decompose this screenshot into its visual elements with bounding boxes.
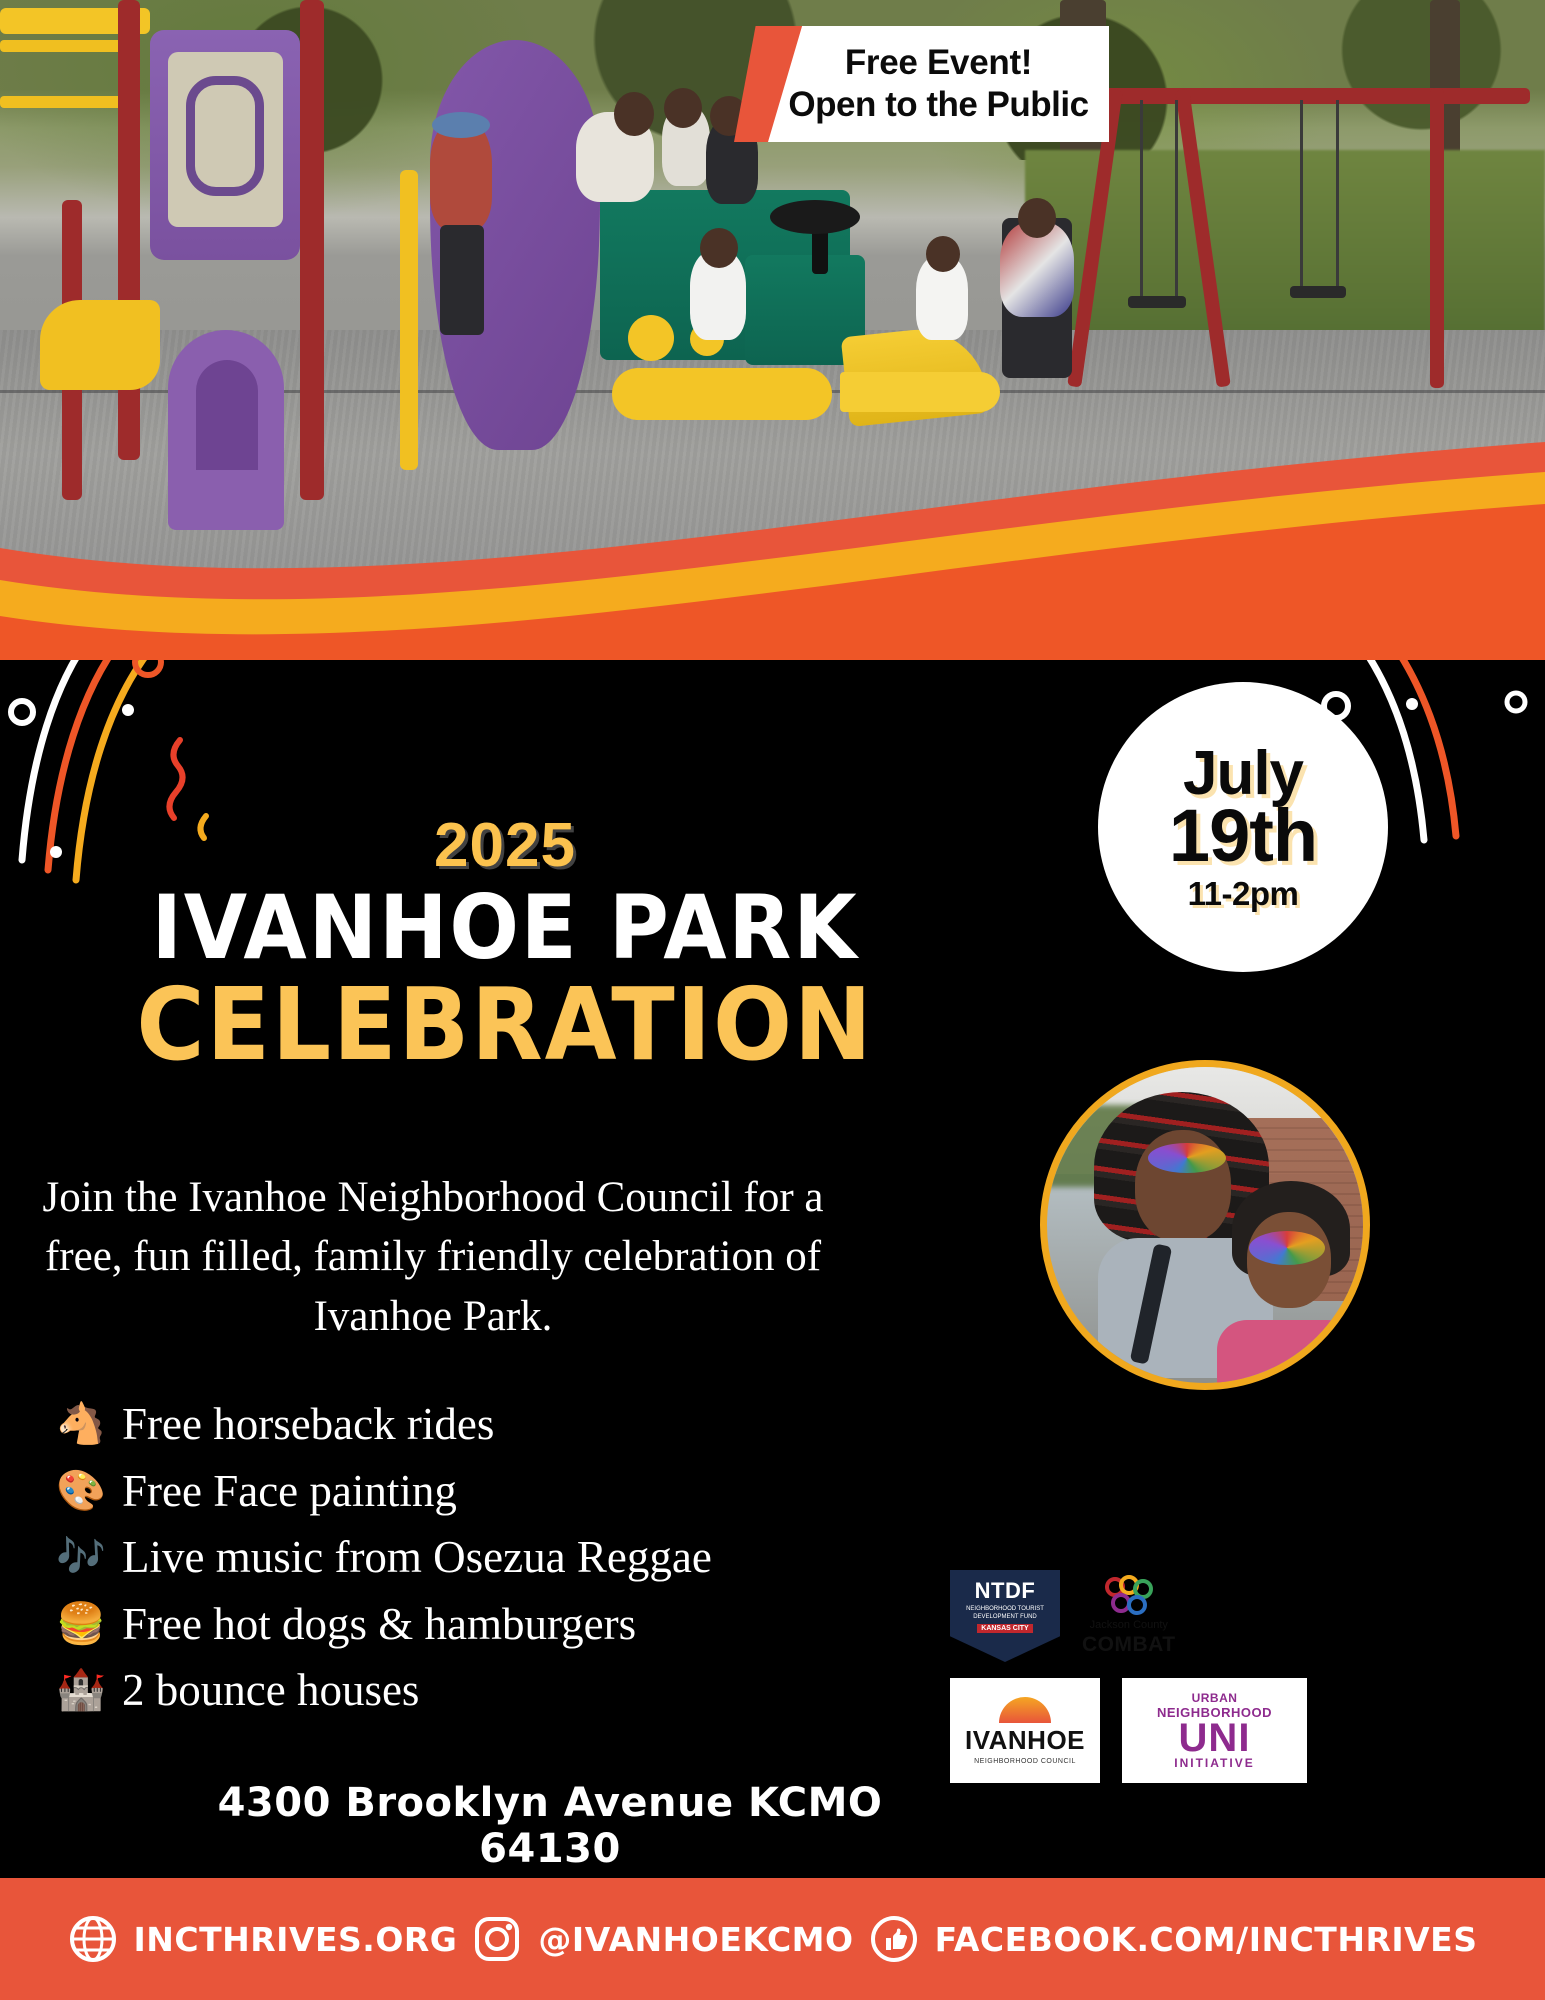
- event-description: Join the Ivanhoe Neighborhood Council fo…: [38, 1168, 828, 1346]
- feature-list: 🐴 Free horseback rides 🎨 Free Face paint…: [56, 1395, 886, 1728]
- music-notes-emoji: 🎶: [56, 1531, 106, 1583]
- combat-name: COMBAT: [1082, 1633, 1176, 1657]
- footer-instagram[interactable]: @IVANHOEKCMO: [472, 1914, 853, 1964]
- combat-county: Jackson County: [1090, 1619, 1168, 1631]
- ivanhoe-name: IVANHOE: [965, 1725, 1085, 1756]
- sponsor-row-bottom: IVANHOE NEIGHBORHOOD COUNCIL URBAN NEIGH…: [950, 1678, 1480, 1783]
- globe-icon: [68, 1914, 118, 1964]
- bulldozer-smoke: [770, 200, 860, 234]
- child-hat: [432, 112, 490, 138]
- face-painting-photo: [1040, 1060, 1370, 1390]
- ntdf-logo: NTDF NEIGHBORHOOD TOURIST DEVELOPMENT FU…: [950, 1570, 1060, 1662]
- footer-website-label: INCTHRIVES.ORG: [134, 1920, 458, 1959]
- sponsor-logos: NTDF NEIGHBORHOOD TOURIST DEVELOPMENT FU…: [950, 1570, 1480, 1799]
- banner-line-2: Open to the Public: [788, 85, 1088, 125]
- photo-adult-facepaint: [1148, 1143, 1226, 1173]
- event-subtitle: CELEBRATION: [35, 975, 974, 1075]
- title-block: 2025 IVANHOE PARK CELEBRATION: [0, 810, 1010, 1075]
- banner-sheet: Free Event! Open to the Public: [768, 26, 1109, 142]
- list-item: 🐴 Free horseback rides: [56, 1395, 886, 1454]
- sponsor-row-top: NTDF NEIGHBORHOOD TOURIST DEVELOPMENT FU…: [950, 1570, 1480, 1662]
- list-item: 🍔 Free hot dogs & hamburgers: [56, 1595, 886, 1654]
- horse-emoji: 🐴: [56, 1398, 106, 1450]
- child-legs: [440, 225, 484, 335]
- castle-emoji: 🏰: [56, 1664, 106, 1716]
- swing-chain: [1336, 100, 1339, 290]
- date-day: 19th: [1169, 801, 1317, 871]
- free-event-banner: Free Event! Open to the Public: [734, 26, 1109, 142]
- feature-label: 2 bounce houses: [122, 1661, 419, 1720]
- feature-label: Free horseback rides: [122, 1395, 494, 1454]
- footer-instagram-label: @IVANHOEKCMO: [538, 1920, 853, 1959]
- footer-bar: INCTHRIVES.ORG @IVANHOEKCMO FACEBOOK.COM…: [0, 1878, 1545, 2000]
- yellow-slide-bed: [840, 372, 1000, 412]
- photo-child-body: [1217, 1320, 1357, 1390]
- swing-seat: [1290, 286, 1346, 298]
- footer-facebook[interactable]: FACEBOOK.COM/INCTHRIVES: [869, 1914, 1478, 1964]
- swing-frame-leg: [1430, 88, 1444, 388]
- sunrise-icon: [999, 1697, 1051, 1723]
- date-time: 11-2pm: [1188, 877, 1299, 910]
- playset-rail: [0, 96, 130, 108]
- palette-emoji: 🎨: [56, 1465, 106, 1517]
- swing-chain: [1300, 100, 1303, 290]
- list-item: 🎶 Live music from Osezua Reggae: [56, 1528, 886, 1587]
- footer-facebook-label: FACEBOOK.COM/INCTHRIVES: [935, 1920, 1478, 1959]
- playset-maze-shape: [186, 76, 264, 196]
- facebook-thumb-icon: [869, 1914, 919, 1964]
- swing-chain: [1140, 100, 1143, 300]
- ntdf-abbr: NTDF: [975, 1578, 1036, 1604]
- list-item: 🎨 Free Face painting: [56, 1462, 886, 1521]
- child-head: [926, 236, 960, 272]
- swing-seat: [1128, 296, 1186, 308]
- ivanhoe-logo: IVANHOE NEIGHBORHOOD COUNCIL: [950, 1678, 1100, 1783]
- ntdf-city: KANSAS CITY: [977, 1624, 1032, 1633]
- instagram-icon: [472, 1914, 522, 1964]
- bulldozer-track: [612, 368, 832, 420]
- list-item: 🏰 2 bounce houses: [56, 1661, 886, 1720]
- playset-rail: [0, 40, 130, 52]
- feature-label: Live music from Osezua Reggae: [122, 1528, 712, 1587]
- event-flyer: Free Event! Open to the Public July 19th: [0, 0, 1545, 2000]
- playset-post: [300, 0, 324, 500]
- combat-logo: Jackson County COMBAT: [1082, 1575, 1176, 1657]
- spring-rider: [40, 300, 160, 390]
- uni-logo: URBAN NEIGHBORHOOD UNI INITIATIVE: [1122, 1678, 1307, 1783]
- adult-head: [1018, 198, 1056, 238]
- child-head: [664, 88, 702, 128]
- playset-post: [400, 170, 418, 470]
- adult-head: [614, 92, 654, 136]
- banner-line-1: Free Event!: [845, 43, 1032, 83]
- event-year: 2025: [0, 810, 1010, 881]
- feature-label: Free Face painting: [122, 1462, 457, 1521]
- swing-chain: [1175, 100, 1178, 300]
- footer-website[interactable]: INCTHRIVES.ORG: [68, 1914, 458, 1964]
- event-title: IVANHOE PARK: [35, 883, 974, 973]
- ivanhoe-sub: NEIGHBORHOOD COUNCIL: [974, 1758, 1076, 1765]
- uni-line-1: URBAN: [1192, 1691, 1238, 1705]
- date-badge: July 19th 11-2pm: [1098, 682, 1388, 972]
- child-head: [700, 228, 738, 268]
- playset-post: [118, 0, 140, 460]
- event-address: 4300 Brooklyn Avenue KCMO 64130: [150, 1780, 950, 1872]
- ntdf-full: NEIGHBORHOOD TOURIST DEVELOPMENT FUND: [950, 1606, 1060, 1621]
- hamburger-emoji: 🍔: [56, 1598, 106, 1650]
- feature-label: Free hot dogs & hamburgers: [122, 1595, 636, 1654]
- combat-knot-icon: [1103, 1575, 1155, 1617]
- wave-divider: [0, 430, 1545, 660]
- bulldozer-wheel: [628, 315, 674, 361]
- uni-line-3: UNI: [1179, 1720, 1251, 1756]
- uni-line-4: INITIATIVE: [1174, 1756, 1254, 1770]
